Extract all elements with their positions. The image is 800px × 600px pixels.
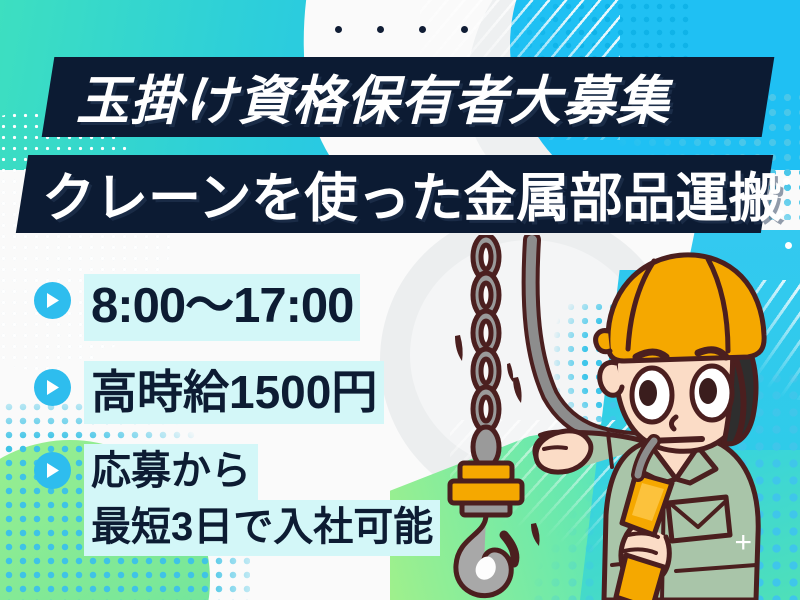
top-dot (335, 26, 342, 33)
benefit-working-hours: 8:00〜17:00 (84, 274, 360, 341)
top-dot (419, 26, 426, 33)
play-icon (34, 369, 71, 406)
list-item: 高時給1500円 (34, 361, 504, 424)
headline-primary-band: 玉掛け資格保有者大募集 (42, 57, 775, 137)
list-item: 応募から 最短3日で入社可能 (34, 444, 504, 556)
plus-decoration: + (734, 528, 752, 558)
headline-secondary-band: クレーンを使った金属部品運搬 (16, 155, 773, 233)
list-item-text-wrap: 高時給1500円 (84, 361, 384, 424)
play-icon (34, 452, 71, 489)
benefit-fast-hire-line2: 最短3日で入社可能 (84, 500, 440, 556)
top-dot (461, 26, 468, 33)
list-item-text-wrap: 応募から 最短3日で入社可能 (84, 444, 440, 556)
benefit-hourly-wage: 高時給1500円 (84, 361, 384, 424)
list-item: 8:00〜17:00 (34, 274, 504, 341)
benefits-list: 8:00〜17:00 高時給1500円 応募から 最短3日で入社可能 (34, 274, 504, 576)
play-icon (34, 282, 71, 319)
headline-secondary-text: クレーンを使った金属部品運搬 (22, 156, 781, 232)
benefit-fast-hire-line1: 応募から (84, 444, 258, 500)
edge-dot (783, 178, 790, 185)
list-item-text-wrap: 8:00〜17:00 (84, 274, 360, 341)
top-decorative-dots (335, 26, 468, 33)
headline-primary-text: 玉掛け資格保有者大募集 (48, 59, 670, 135)
top-dot (377, 26, 384, 33)
job-advertisement-banner: 玉掛け資格保有者大募集 クレーンを使った金属部品運搬 8:00〜17:00 高時… (0, 0, 800, 600)
